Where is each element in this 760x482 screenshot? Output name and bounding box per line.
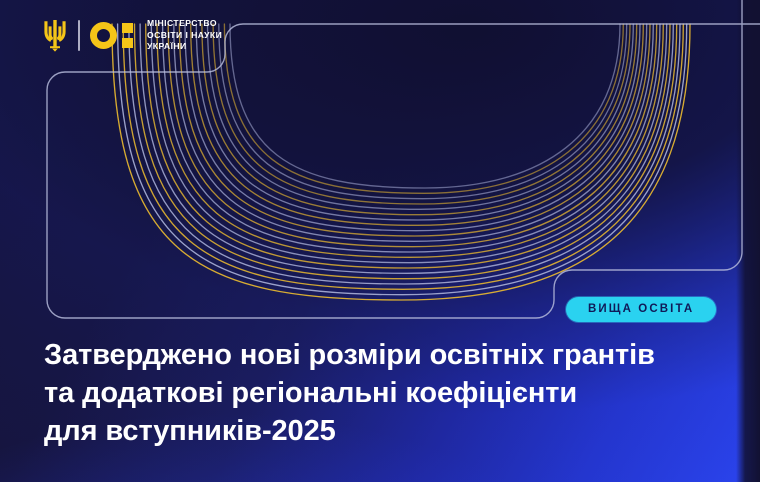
logo-square-top xyxy=(122,23,133,33)
page-title: Затверджено нові розміри освітніх гранті… xyxy=(44,336,734,450)
logo-ring-shape xyxy=(90,22,117,49)
background-right-band xyxy=(736,0,760,482)
headline-line-3: для вступників-2025 xyxy=(44,412,734,450)
ministry-line-3: УКРАЇНИ xyxy=(147,41,222,52)
ukraine-trident-icon xyxy=(42,18,68,52)
headline-line-2: та додаткові регіональні коефіцієнти xyxy=(44,374,734,412)
logo-squares-shape xyxy=(122,23,133,48)
status-badge[interactable]: ВИЩА ОСВІТА xyxy=(566,297,716,322)
mon-circle-squares-icon xyxy=(90,22,133,49)
headline-line-1: Затверджено нові розміри освітніх гранті… xyxy=(44,336,734,374)
ministry-name: МІНІСТЕРСТВО ОСВІТИ І НАУКИ УКРАЇНИ xyxy=(147,18,222,52)
ministry-line-1: МІНІСТЕРСТВО xyxy=(147,18,222,29)
poster-canvas: МІНІСТЕРСТВО ОСВІТИ І НАУКИ УКРАЇНИ ВИЩА… xyxy=(0,0,760,482)
ministry-logo[interactable]: МІНІСТЕРСТВО ОСВІТИ І НАУКИ УКРАЇНИ xyxy=(42,18,222,52)
logo-square-bottom xyxy=(122,38,133,48)
logo-divider xyxy=(78,20,80,51)
ministry-line-2: ОСВІТИ І НАУКИ xyxy=(147,30,222,41)
